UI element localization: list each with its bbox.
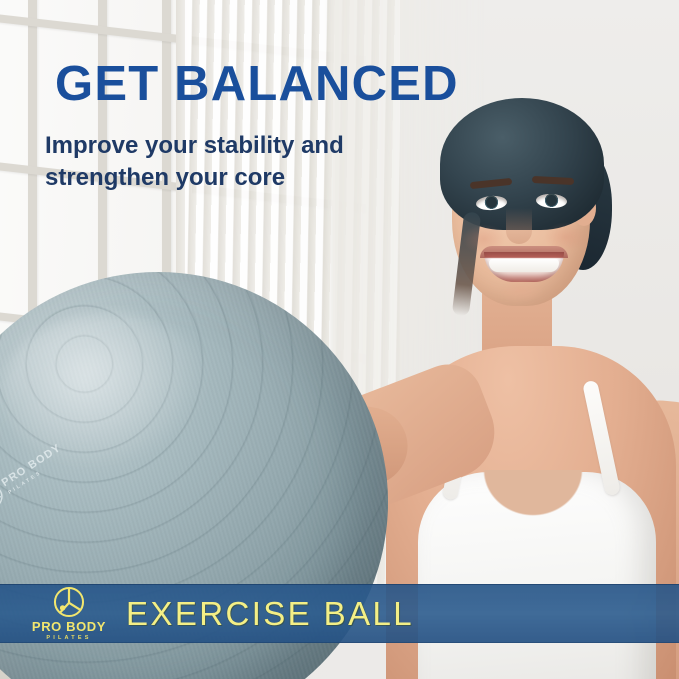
pupil-left	[486, 197, 497, 208]
product-banner: PRO BODY PILATES EXERCISE BALL	[0, 584, 679, 643]
page-title: GET BALANCED	[55, 60, 459, 109]
nose	[506, 208, 532, 244]
chin	[498, 280, 544, 302]
page-subtitle: Improve your stability and strengthen yo…	[45, 130, 344, 193]
brand-name: PRO BODY	[32, 620, 106, 633]
brand-logo: PRO BODY PILATES	[26, 585, 112, 642]
ball-highlight	[2, 313, 214, 469]
brand-tagline: PILATES	[46, 636, 91, 642]
pupil-right	[546, 195, 557, 206]
product-lifestyle-image: PRO BODY PILATES GET BALANCED Improve yo…	[0, 0, 679, 679]
product-name: EXERCISE BALL	[126, 595, 414, 633]
teeth	[489, 259, 559, 272]
pilates-figure-emblem-icon	[52, 585, 86, 619]
